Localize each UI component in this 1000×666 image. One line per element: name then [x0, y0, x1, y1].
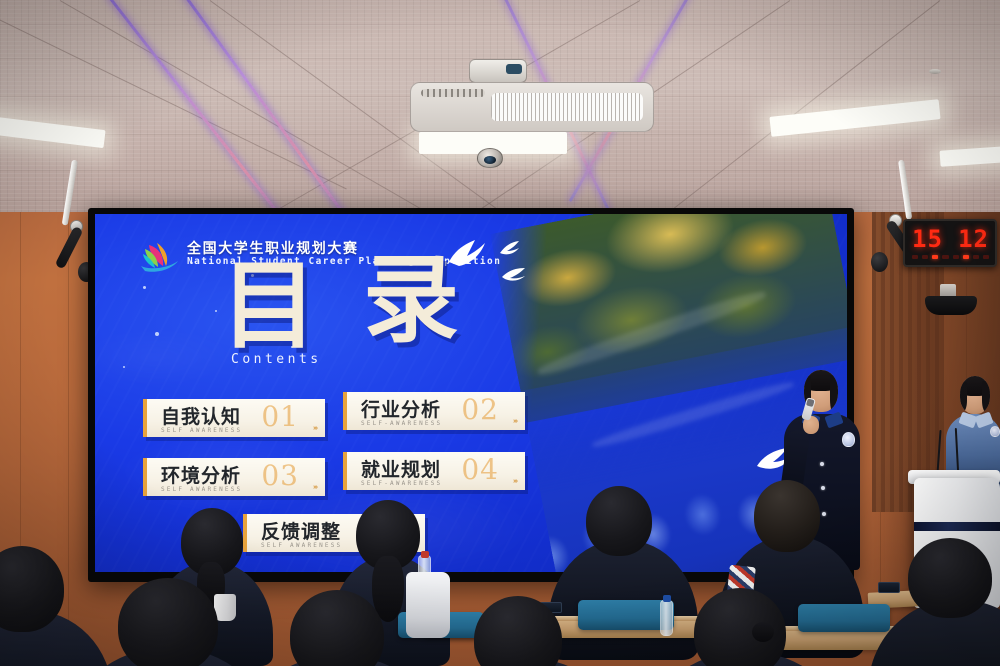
dove-icon — [445, 236, 489, 273]
wall-mounted-loudspeaker — [925, 296, 977, 315]
presentation-room-photo: 15 12 — [0, 0, 1000, 666]
toc-card-dots: ››› — [513, 418, 517, 425]
bottle-cap — [421, 551, 429, 558]
toc-card-dots: ››› — [313, 425, 317, 432]
toc-card-label: 行业分析 — [361, 395, 441, 422]
clock-indicator — [983, 255, 989, 259]
audience-head — [754, 480, 820, 552]
clock-indicator — [912, 255, 918, 259]
ac-intake-slot — [421, 89, 485, 97]
audience-head — [908, 538, 992, 618]
ceiling-projector — [469, 59, 527, 83]
toc-card-sub: SELF AWARENESS — [161, 486, 242, 493]
audience-hair-bun — [752, 622, 774, 642]
toc-card-number: 02 — [461, 393, 499, 426]
dove-icon — [499, 240, 521, 261]
audience-head — [586, 486, 652, 556]
ac-grille — [491, 93, 643, 121]
slide-star — [143, 286, 146, 289]
clock-digits: 15 12 — [912, 226, 989, 252]
clock-indicator-row — [912, 253, 989, 261]
toc-card-label: 环境分析 — [161, 461, 241, 488]
dome-security-camera — [477, 148, 503, 168]
toc-card-number: 04 — [461, 453, 499, 486]
ceiling-air-conditioner — [410, 82, 654, 132]
toc-card-dots: ››› — [313, 484, 317, 491]
toc-card-number: 01 — [261, 400, 299, 433]
paper-cup[interactable] — [214, 594, 236, 621]
slide-heading-chinese: 目 — [221, 262, 317, 350]
water-bottle[interactable] — [660, 600, 673, 636]
toc-card-sub: SELF-AWARENESS — [361, 480, 442, 487]
bottle-cap — [663, 595, 671, 602]
slide-star — [155, 332, 159, 336]
clock-indicator — [942, 255, 948, 259]
assistant-head — [960, 376, 990, 414]
clock-indicator-active — [932, 255, 938, 259]
presenter-shoulder-badge — [842, 432, 855, 447]
toc-card-sub: SELF AWARENESS — [161, 427, 242, 434]
microphone-capsule — [871, 252, 888, 272]
white-handbag[interactable] — [406, 572, 450, 638]
clock-indicator-active — [963, 255, 969, 259]
toc-card-sub: SELF AWARENESS — [261, 542, 342, 549]
toc-card-4[interactable]: 就业规划 SELF-AWARENESS 04 ››› — [343, 452, 525, 490]
clock-minutes: 12 — [958, 225, 989, 253]
toc-card-sub: SELF-AWARENESS — [361, 420, 442, 427]
clock-indicator — [973, 255, 979, 259]
presenter-button — [822, 512, 826, 516]
slide-star — [123, 366, 125, 368]
toc-card-3[interactable]: 环境分析 SELF AWARENESS 03 ››› — [143, 458, 325, 496]
lectern-accent-band — [914, 522, 1000, 531]
ceiling — [0, 0, 1000, 218]
toc-card-number: 03 — [261, 459, 299, 492]
toc-card-dots: ››› — [513, 478, 517, 485]
clock-indicator — [953, 255, 959, 259]
clock-hours: 15 — [912, 225, 943, 253]
toc-card-2[interactable]: 行业分析 SELF-AWARENESS 02 ››› — [343, 392, 525, 430]
projector-lens — [506, 64, 522, 74]
competition-sail-logo — [133, 240, 183, 274]
audience-chair[interactable] — [798, 604, 890, 632]
assistant-hair-left — [960, 382, 967, 412]
audience-head — [118, 578, 218, 666]
assistant-shoulder-badge — [990, 426, 1000, 437]
presenter-hair-right — [830, 375, 838, 412]
clock-indicator — [922, 255, 928, 259]
presenter-button — [821, 486, 825, 490]
assistant-hair-right — [982, 381, 990, 413]
dove-icon — [501, 266, 527, 287]
toc-card-label: 自我认知 — [161, 402, 241, 429]
toc-card-1[interactable]: 自我认知 SELF AWARENESS 01 ››› — [143, 399, 325, 437]
led-wall-clock: 15 12 — [903, 219, 997, 267]
slide-heading-english: Contents — [231, 352, 322, 367]
toc-card-label: 就业规划 — [361, 455, 441, 482]
smartphone-on-desk[interactable] — [878, 582, 900, 593]
slide-star — [215, 310, 217, 312]
smoke-detector — [929, 69, 941, 74]
toc-card-label: 反馈调整 — [261, 517, 341, 544]
presenter-button — [820, 462, 824, 466]
